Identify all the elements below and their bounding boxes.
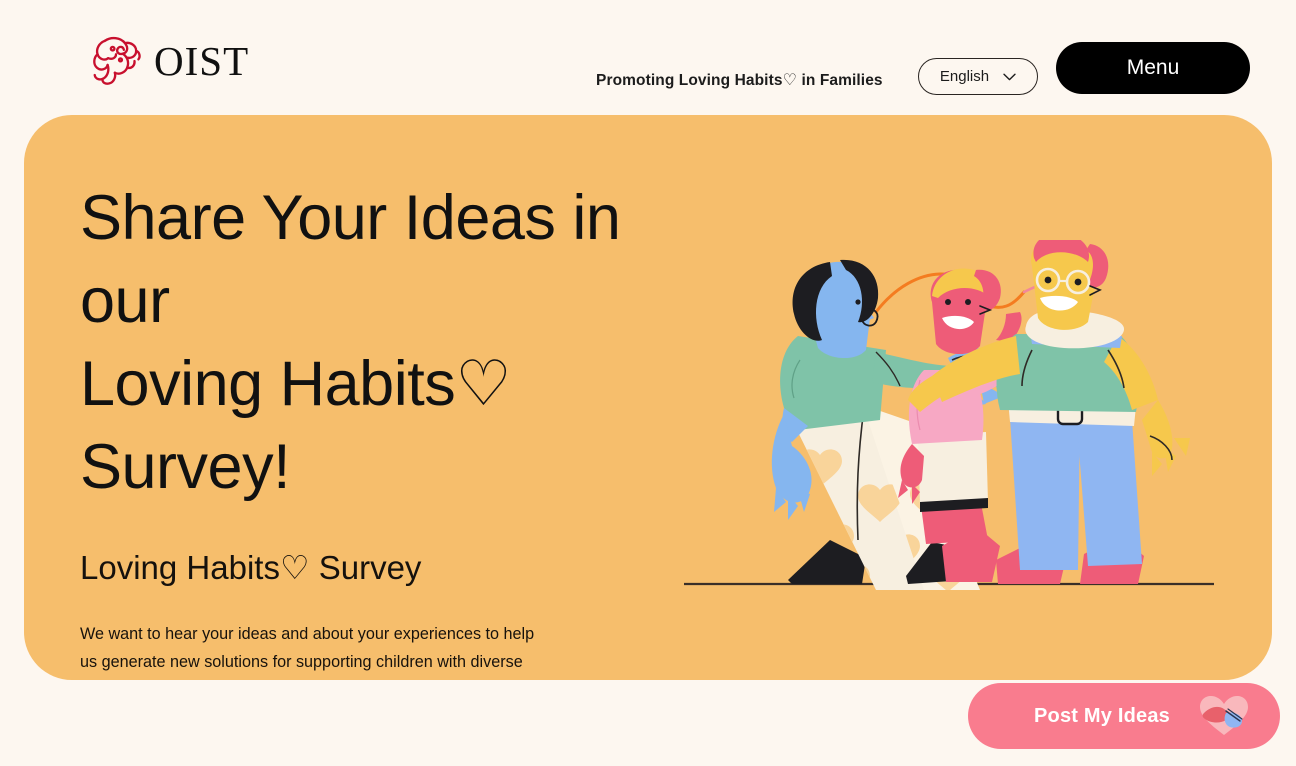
hero-description: We want to hear your ideas and about you…: [80, 621, 550, 680]
heading-line-2-before: Loving Habits: [80, 349, 455, 419]
language-selected-label: English: [940, 68, 989, 85]
heart-outline-icon: ♡: [280, 549, 310, 586]
menu-button[interactable]: Menu: [1056, 42, 1250, 94]
brand-wordmark: OIST: [154, 41, 249, 82]
chevron-down-icon: [1003, 73, 1016, 81]
heart-hands-icon: [1196, 693, 1252, 739]
heading-line-1: Share Your Ideas in our: [80, 183, 620, 336]
language-selector[interactable]: English: [918, 58, 1038, 95]
hero-card: Share Your Ideas in our Loving Habits♡ S…: [24, 115, 1272, 680]
header-tagline: Promoting Loving Habits♡ in Families: [596, 70, 883, 90]
tagline-text-after: in Families: [797, 72, 883, 89]
subtitle-after: Survey: [310, 549, 422, 586]
subtitle-before: Loving Habits: [80, 549, 280, 586]
hero-subtitle: Loving Habits♡ Survey: [80, 548, 640, 588]
heart-outline-icon: ♡: [455, 349, 511, 419]
three-people-walking-illustration: [680, 240, 1240, 620]
heading-line-2-after: Survey!: [80, 432, 290, 502]
hero-copy: Share Your Ideas in our Loving Habits♡ S…: [80, 177, 640, 680]
heart-outline-icon: ♡: [783, 72, 797, 89]
shisa-logo-icon: [88, 33, 144, 89]
post-my-ideas-label: Post My Ideas: [996, 705, 1196, 728]
site-header: OIST Promoting Loving Habits♡ in Familie…: [0, 0, 1296, 115]
brand-logo[interactable]: OIST: [88, 30, 249, 92]
tagline-text-before: Promoting Loving Habits: [596, 72, 783, 89]
page-title: Share Your Ideas in our Loving Habits♡ S…: [80, 177, 640, 510]
post-my-ideas-button[interactable]: Post My Ideas: [968, 683, 1280, 749]
